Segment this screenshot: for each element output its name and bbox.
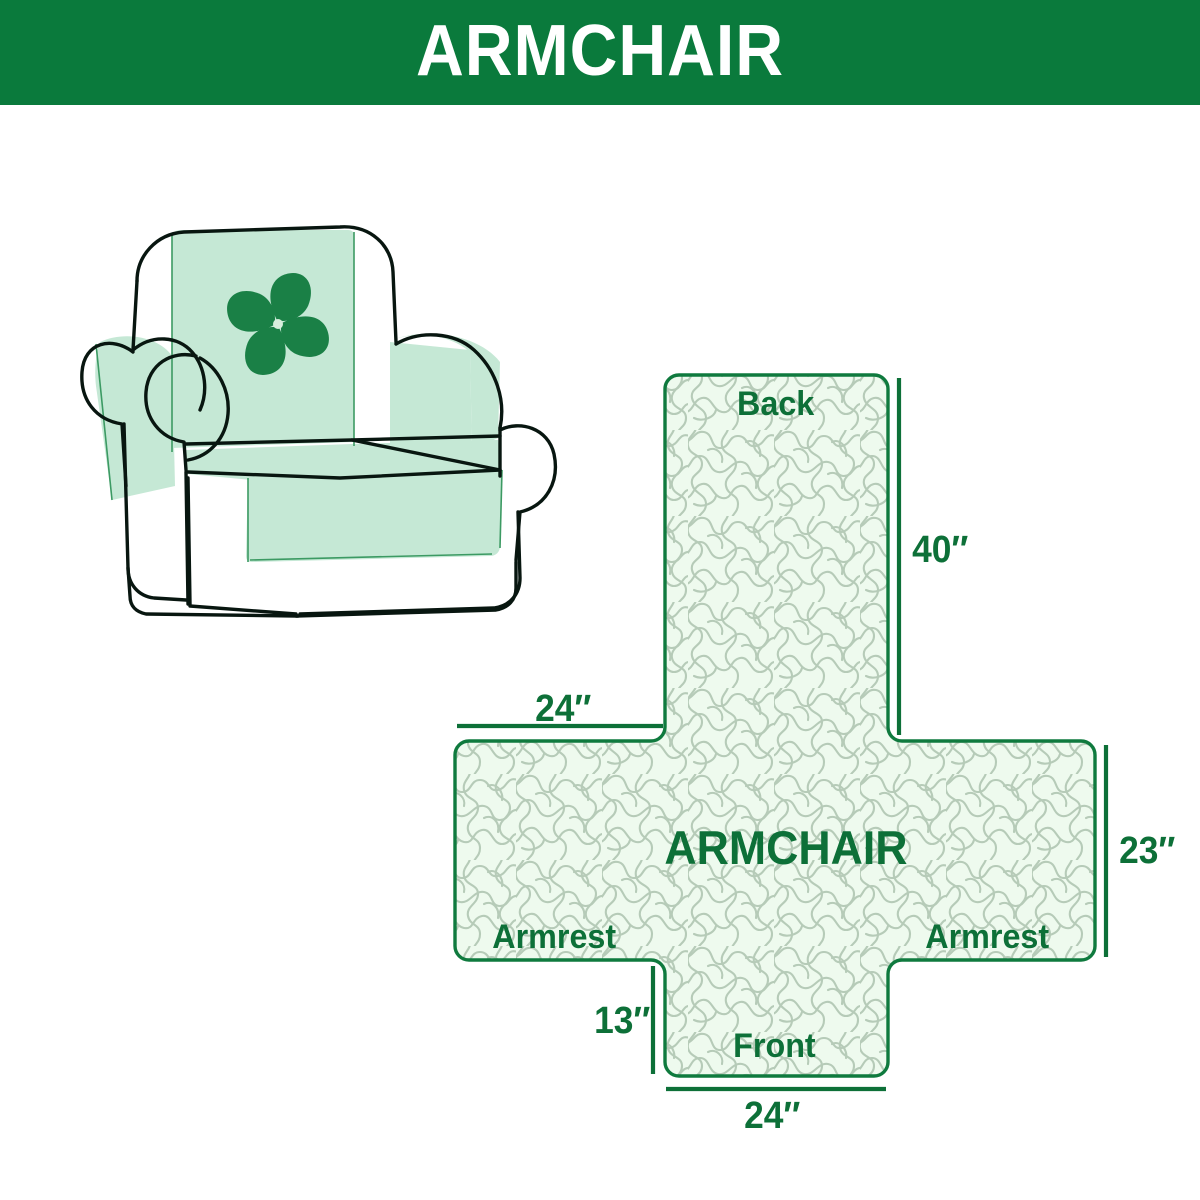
chair-seat-skirt-cover (246, 470, 502, 562)
dim-label-seat-depth: 23″ (1119, 830, 1175, 873)
dim-label-back-length: 40″ (912, 529, 968, 572)
panel-label-back: Back (737, 385, 814, 424)
panel-label-armrest-left: Armrest (492, 918, 616, 957)
armchair-illustration (82, 227, 556, 616)
panel-label-front: Front (733, 1027, 816, 1066)
panel-label-armrest-right: Armrest (925, 918, 1049, 957)
dim-label-front-drop: 13″ (594, 1000, 650, 1043)
dim-label-back-width: 24″ (535, 688, 591, 731)
dim-label-front-width: 24″ (744, 1095, 800, 1138)
product-dimension-diagram: ARMCHAIR (0, 0, 1200, 1200)
chair-right-arm-cover-2 (390, 342, 472, 458)
pattern-center-label: ARMCHAIR (664, 820, 907, 875)
